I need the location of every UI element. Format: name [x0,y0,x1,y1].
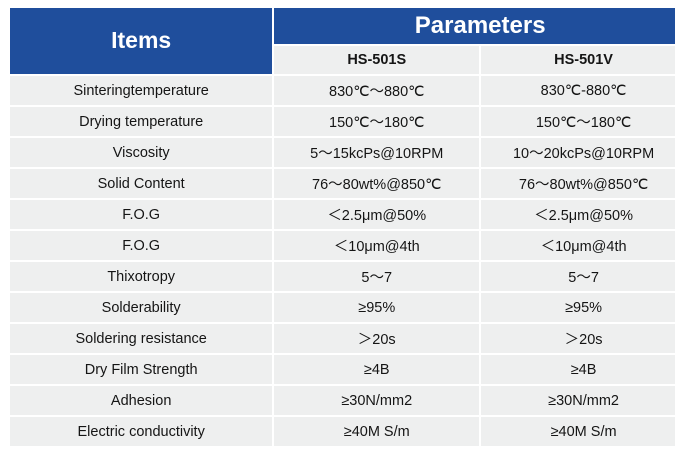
row-value-hs-501v: ＜2.5μm@50% [481,200,675,229]
row-item-label: Sinteringtemperature [10,76,272,105]
row-value-hs-501s: ≥95% [274,293,479,322]
header-column-hs-501s: HS-501S [274,46,479,74]
table-row: Soldering resistance ＞20s ＞20s [10,324,675,353]
row-value-hs-501v: 150℃〜180℃ [481,107,675,136]
table-row: Viscosity 5〜15kcPs@10RPM 10〜20kcPs@10RPM [10,138,675,167]
table-row: Solderability ≥95% ≥95% [10,293,675,322]
specifications-table: Items Parameters HS-501S HS-501V Sinteri… [8,6,675,448]
table-row: Sinteringtemperature 830℃〜880℃ 830℃-880℃ [10,76,675,105]
row-item-label: Thixotropy [10,262,272,291]
row-value-hs-501s: ＜2.5μm@50% [274,200,479,229]
table-row: Electric conductivity ≥40M S/m ≥40M S/m [10,417,675,446]
row-item-label: Drying temperature [10,107,272,136]
row-item-label: Solderability [10,293,272,322]
header-row-top: Items Parameters [10,8,675,44]
row-value-hs-501s: 5〜7 [274,262,479,291]
row-value-hs-501v: 76〜80wt%@850℃ [481,169,675,198]
table-row: F.O.G ＜2.5μm@50% ＜2.5μm@50% [10,200,675,229]
row-value-hs-501v: ≥95% [481,293,675,322]
row-item-label: Adhesion [10,386,272,415]
row-value-hs-501s: ≥30N/mm2 [274,386,479,415]
row-value-hs-501s: 5〜15kcPs@10RPM [274,138,479,167]
row-item-label: Soldering resistance [10,324,272,353]
table-row: Thixotropy 5〜7 5〜7 [10,262,675,291]
row-value-hs-501s: ≥40M S/m [274,417,479,446]
row-value-hs-501v: 5〜7 [481,262,675,291]
header-items: Items [10,8,272,74]
row-item-label: Solid Content [10,169,272,198]
row-value-hs-501v: 830℃-880℃ [481,76,675,105]
row-value-hs-501v: 10〜20kcPs@10RPM [481,138,675,167]
row-value-hs-501s: ≥4B [274,355,479,384]
row-value-hs-501v: ≥30N/mm2 [481,386,675,415]
row-value-hs-501s: ＜10μm@4th [274,231,479,260]
header-parameters: Parameters [274,8,675,44]
row-item-label: Dry Film Strength [10,355,272,384]
row-item-label: Electric conductivity [10,417,272,446]
row-value-hs-501v: ≥4B [481,355,675,384]
row-item-label: F.O.G [10,200,272,229]
table-row: Solid Content 76〜80wt%@850℃ 76〜80wt%@850… [10,169,675,198]
row-value-hs-501v: ≥40M S/m [481,417,675,446]
row-value-hs-501s: 830℃〜880℃ [274,76,479,105]
row-value-hs-501s: ＞20s [274,324,479,353]
table-row: F.O.G ＜10μm@4th ＜10μm@4th [10,231,675,260]
table-row: Drying temperature 150℃〜180℃ 150℃〜180℃ [10,107,675,136]
table-header: Items Parameters HS-501S HS-501V [10,8,675,74]
row-item-label: Viscosity [10,138,272,167]
row-value-hs-501s: 76〜80wt%@850℃ [274,169,479,198]
table-row: Dry Film Strength ≥4B ≥4B [10,355,675,384]
header-column-hs-501v: HS-501V [481,46,675,74]
row-item-label: F.O.G [10,231,272,260]
row-value-hs-501s: 150℃〜180℃ [274,107,479,136]
row-value-hs-501v: ＞20s [481,324,675,353]
row-value-hs-501v: ＜10μm@4th [481,231,675,260]
table-row: Adhesion ≥30N/mm2 ≥30N/mm2 [10,386,675,415]
table-body: Sinteringtemperature 830℃〜880℃ 830℃-880℃… [10,76,675,446]
